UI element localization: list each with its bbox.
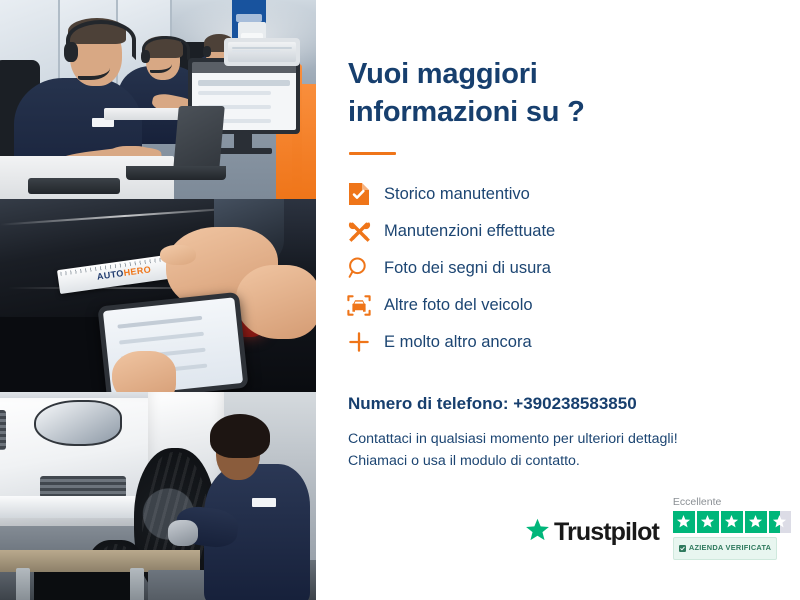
verified-business-badge: AZIENDA VERIFICATA bbox=[673, 537, 777, 560]
plus-icon bbox=[346, 329, 372, 355]
headlight bbox=[34, 400, 122, 446]
page-title: Vuoi maggiori informazioni su ? bbox=[348, 55, 638, 132]
star-filled bbox=[697, 511, 719, 533]
star-filled bbox=[673, 511, 695, 533]
keyboard bbox=[28, 178, 120, 194]
work-glove bbox=[168, 520, 198, 546]
forearm bbox=[236, 265, 316, 339]
feature-list: Storico manutentivo Manutenzi bbox=[346, 178, 676, 363]
star-rating bbox=[673, 511, 791, 533]
headset-icon bbox=[203, 46, 211, 57]
hand-holding-tablet bbox=[112, 351, 176, 392]
feature-item-molto-altro: E molto altro ancora bbox=[346, 326, 676, 358]
advertisement-banner: AUTOHERO bbox=[0, 0, 800, 600]
title-underline-rule bbox=[349, 152, 396, 155]
feature-label: Altre foto del veicolo bbox=[384, 297, 533, 314]
laptop-base bbox=[126, 166, 226, 180]
phone-heading: Numero di telefono: +390238583850 bbox=[348, 394, 637, 414]
laptop-screen bbox=[173, 106, 225, 170]
back-monitor bbox=[224, 38, 300, 66]
magnifier-icon bbox=[346, 255, 372, 281]
phone-copy-line-2: Chiamaci o usa il modulo di contatto. bbox=[348, 453, 580, 469]
monitor-base bbox=[214, 148, 272, 154]
feature-label: E molto altro ancora bbox=[384, 334, 532, 351]
car-scan-icon bbox=[346, 292, 372, 318]
star-filled bbox=[745, 511, 767, 533]
feature-label: Storico manutentivo bbox=[384, 186, 530, 203]
finger bbox=[160, 245, 196, 265]
phone-copy: Contattaci in qualsiasi momento per ulte… bbox=[348, 428, 778, 472]
work-bench bbox=[0, 550, 200, 572]
brand-prefix: AUTO bbox=[96, 268, 124, 282]
trustpilot-wordmark: Trustpilot bbox=[554, 520, 659, 545]
verified-check-icon bbox=[679, 539, 686, 557]
star-filled bbox=[721, 511, 743, 533]
document-check-icon bbox=[346, 181, 372, 207]
photo-vehicle-inspection: AUTOHERO bbox=[0, 199, 316, 392]
wrench-screwdriver-icon bbox=[346, 218, 372, 244]
trustpilot-logo: Trustpilot bbox=[524, 517, 659, 548]
phone-copy-line-1: Contattaci in qualsiasi momento per ulte… bbox=[348, 431, 678, 447]
trustpilot-rating: Eccellente bbox=[673, 497, 791, 560]
trustpilot-star-icon bbox=[524, 517, 551, 548]
lower-grille bbox=[40, 476, 126, 498]
feature-label: Foto dei segni di usura bbox=[384, 260, 551, 277]
content-panel: Vuoi maggiori informazioni su ? Storico … bbox=[316, 0, 800, 600]
grille bbox=[0, 410, 6, 450]
shadow bbox=[34, 572, 130, 600]
lift-post bbox=[16, 568, 30, 600]
lift-post bbox=[130, 568, 144, 600]
feature-label: Manutenzioni effettuate bbox=[384, 223, 555, 240]
feature-item-foto-segni-usura: Foto dei segni di usura bbox=[346, 252, 676, 284]
star-half bbox=[769, 511, 791, 533]
front-bumper bbox=[0, 496, 140, 518]
feature-item-storico-manutentivo: Storico manutentivo bbox=[346, 178, 676, 210]
brand-suffix: HERO bbox=[123, 264, 152, 278]
photo-workshop-mechanic bbox=[0, 392, 316, 600]
feature-item-manutenzioni-effettuate: Manutenzioni effettuate bbox=[346, 215, 676, 247]
photo-column: AUTOHERO bbox=[0, 0, 316, 600]
autohero-logo-patch bbox=[252, 498, 276, 507]
trustpilot-widget[interactable]: Trustpilot Eccellente bbox=[524, 497, 791, 560]
verified-label: AZIENDA VERIFICATA bbox=[689, 544, 771, 551]
photo-call-centre bbox=[0, 0, 316, 199]
rating-label: Eccellente bbox=[673, 497, 791, 508]
feature-item-altre-foto-veicolo: Altre foto del veicolo bbox=[346, 289, 676, 321]
